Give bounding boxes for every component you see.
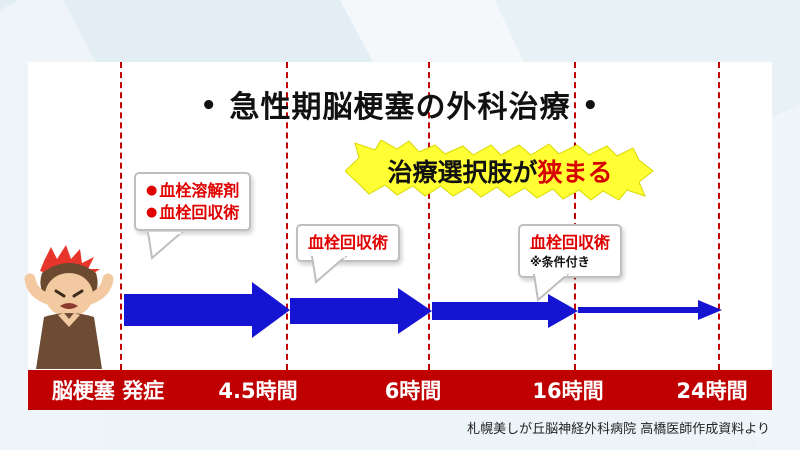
timeline-label-24h: 24時間: [652, 370, 772, 410]
title-text: 急性期脳梗塞の外科治療: [230, 90, 571, 125]
burst-callout: 治療選択肢が狭まる: [345, 140, 655, 202]
callout-thrombectomy: 血栓回収術: [296, 224, 400, 262]
callout-2-tail: [310, 256, 350, 284]
arrow-6h-to-16h: [432, 294, 578, 328]
callout-thrombectomy-conditional: 血栓回収術 ※条件付き: [518, 224, 622, 278]
timeline-label-onset: 脳梗塞 発症: [28, 370, 188, 410]
arrow-onset-to-4h5: [124, 282, 290, 338]
timeline-label-6h: 6時間: [358, 370, 468, 410]
callout-1-bullet-2: ●: [146, 205, 157, 220]
title-bullet-left: •: [200, 91, 218, 121]
arrow-4h5-to-6h: [290, 288, 432, 334]
callout-1-bullet-1: ●: [146, 183, 157, 198]
callout-drug-options: ●血栓溶解剤 ●血栓回収術: [134, 172, 251, 231]
callout-3-line-1: 血栓回収術: [530, 232, 610, 254]
burst-text-highlight: 狭まる: [538, 153, 613, 189]
timeline-label-16h: 16時間: [508, 370, 628, 410]
burst-text-plain: 治療選択肢が: [387, 153, 537, 189]
callout-3-note: ※条件付き: [530, 254, 610, 270]
page-title: • 急性期脳梗塞の外科治療 •: [0, 82, 800, 126]
stroke-patient-illustration: [14, 243, 124, 371]
callout-2-line-1: 血栓回収術: [308, 232, 388, 254]
burst-text: 治療選択肢が狭まる: [345, 140, 655, 202]
callout-1-line-2: ●血栓回収術: [146, 202, 239, 224]
callout-1-tail: [146, 232, 186, 260]
arrow-16h-to-24h: [578, 300, 722, 320]
callout-1-line-1: ●血栓溶解剤: [146, 180, 239, 202]
timeline-bar: 脳梗塞 発症 4.5時間 6時間 16時間 24時間: [28, 370, 772, 410]
timeline-label-4h5: 4.5時間: [198, 370, 318, 410]
source-credit: 札幌美しが丘脳神経外科病院 高橋医師作成資料より: [467, 418, 770, 437]
title-bullet-right: •: [582, 91, 600, 121]
